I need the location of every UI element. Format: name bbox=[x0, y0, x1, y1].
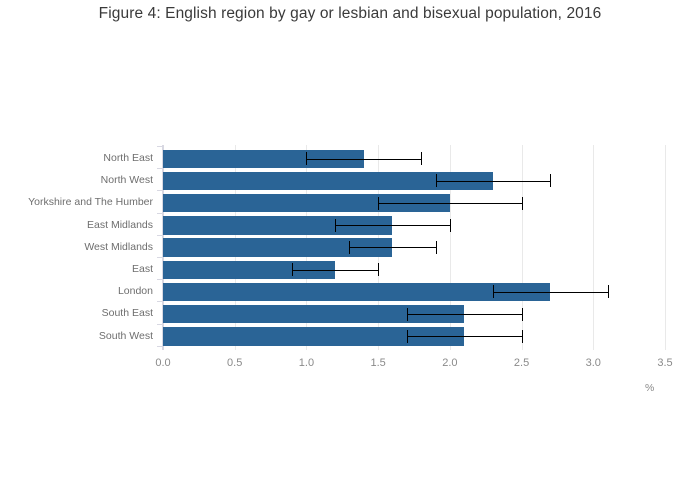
x-axis-tick-label: 0.5 bbox=[227, 357, 242, 369]
y-axis-label: South East bbox=[3, 307, 153, 319]
error-bar-line bbox=[335, 225, 450, 226]
y-axis-line bbox=[162, 145, 163, 350]
x-axis-title: % bbox=[645, 382, 654, 394]
y-tick-mark bbox=[157, 168, 162, 169]
error-bar-line bbox=[407, 314, 522, 315]
error-bar-cap-high bbox=[550, 174, 551, 187]
x-axis-tick-label: 2.0 bbox=[442, 357, 457, 369]
error-bar-line bbox=[436, 181, 551, 182]
y-axis-label: North West bbox=[3, 174, 153, 186]
error-bar-cap-high bbox=[450, 219, 451, 232]
y-axis-labels: North EastNorth WestYorkshire and The Hu… bbox=[0, 145, 153, 350]
error-bar-cap-high bbox=[378, 263, 379, 276]
error-bar-line bbox=[407, 336, 522, 337]
error-bar-line bbox=[349, 247, 435, 248]
error-bar-cap-low bbox=[349, 241, 350, 254]
bar-row[interactable] bbox=[163, 234, 665, 256]
bar-row[interactable] bbox=[163, 212, 665, 234]
chart-title: Figure 4: English region by gay or lesbi… bbox=[0, 5, 700, 23]
bar-row[interactable] bbox=[163, 256, 665, 278]
error-bar-cap-low bbox=[292, 263, 293, 276]
bar-row[interactable] bbox=[163, 278, 665, 300]
error-bar-cap-high bbox=[421, 152, 422, 165]
y-axis-label: London bbox=[3, 285, 153, 297]
error-bar-cap-low bbox=[407, 308, 408, 321]
error-bar-line bbox=[306, 159, 421, 160]
plot-area bbox=[163, 145, 665, 350]
y-tick-mark bbox=[157, 146, 162, 147]
error-bar-line bbox=[378, 203, 521, 204]
bar-row[interactable] bbox=[163, 145, 665, 167]
error-bar-cap-low bbox=[407, 330, 408, 343]
y-tick-mark bbox=[157, 190, 162, 191]
bar-row[interactable] bbox=[163, 189, 665, 211]
y-tick-mark bbox=[157, 235, 162, 236]
figure-container: Figure 4: English region by gay or lesbi… bbox=[0, 0, 700, 502]
y-axis-label: East bbox=[3, 263, 153, 275]
error-bar-cap-low bbox=[493, 285, 494, 298]
error-bar-cap-low bbox=[335, 219, 336, 232]
y-axis-label: South West bbox=[3, 330, 153, 342]
error-bar-cap-high bbox=[522, 197, 523, 210]
y-axis-label: North East bbox=[3, 152, 153, 164]
y-axis-label: East Midlands bbox=[3, 219, 153, 231]
error-bar-line bbox=[292, 270, 378, 271]
bar-row[interactable] bbox=[163, 167, 665, 189]
y-tick-mark bbox=[157, 279, 162, 280]
bar-row[interactable] bbox=[163, 323, 665, 345]
x-axis-tick-label: 1.5 bbox=[370, 357, 385, 369]
x-axis-tick-label: 2.5 bbox=[514, 357, 529, 369]
error-bar-cap-low bbox=[378, 197, 379, 210]
x-axis-tick-label: 0.0 bbox=[155, 357, 170, 369]
y-tick-mark bbox=[157, 301, 162, 302]
x-axis-tick-label: 3.0 bbox=[586, 357, 601, 369]
y-tick-mark bbox=[157, 324, 162, 325]
error-bar-line bbox=[493, 292, 608, 293]
x-axis-labels: 0.00.51.01.52.02.53.03.5 bbox=[163, 357, 665, 373]
y-axis-label: West Midlands bbox=[3, 241, 153, 253]
y-tick-mark bbox=[157, 257, 162, 258]
y-axis-label: Yorkshire and The Humber bbox=[3, 196, 153, 208]
gridline bbox=[665, 145, 666, 350]
error-bar-cap-low bbox=[436, 174, 437, 187]
bars-layer bbox=[163, 145, 665, 350]
error-bar-cap-low bbox=[306, 152, 307, 165]
y-tick-mark bbox=[157, 213, 162, 214]
y-tick-mark bbox=[157, 346, 162, 347]
x-axis-tick-label: 1.0 bbox=[299, 357, 314, 369]
x-axis-tick-label: 3.5 bbox=[657, 357, 672, 369]
error-bar-cap-high bbox=[522, 308, 523, 321]
error-bar-cap-high bbox=[522, 330, 523, 343]
error-bar-cap-high bbox=[608, 285, 609, 298]
error-bar-cap-high bbox=[436, 241, 437, 254]
bar-row[interactable] bbox=[163, 300, 665, 322]
